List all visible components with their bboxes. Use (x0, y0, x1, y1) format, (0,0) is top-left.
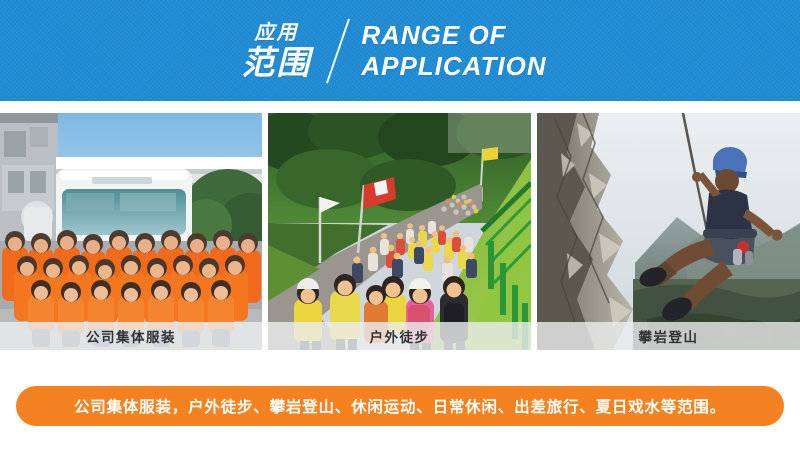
photo-company-group (0, 113, 262, 350)
header-title-group: 应用 范围 RANGE OF APPLICATION (0, 0, 800, 101)
header-english-title: RANGE OF APPLICATION (361, 20, 546, 80)
photo-rock-climbing (537, 113, 800, 350)
photo-hiking-crowd (268, 113, 531, 350)
gallery-card-outdoor-hiking[interactable]: 户外徒步 (268, 113, 531, 350)
gallery-caption-2: 户外徒步 (268, 322, 531, 350)
gallery-caption-1: 公司集体服装 (0, 322, 262, 350)
header-english-line-2: APPLICATION (361, 51, 546, 81)
gallery-card-rock-climbing[interactable]: 攀岩登山 (537, 113, 800, 350)
header-english-line-1: RANGE OF (361, 20, 546, 50)
gallery-card-company-uniform[interactable]: 公司集体服装 (0, 113, 262, 350)
summary-banner: 公司集体服装，户外徒步、攀岩登山、休闲运动、日常休闲、出差旅行、夏日戏水等范围。 (16, 386, 784, 426)
summary-banner-area: 公司集体服装，户外徒步、攀岩登山、休闲运动、日常休闲、出差旅行、夏日戏水等范围。 (0, 386, 800, 426)
header-chinese-line-top: 应用 (254, 22, 298, 42)
header-chinese-line-bottom: 范围 (241, 46, 311, 79)
title-block: 应用 范围 RANGE OF APPLICATION (241, 15, 546, 87)
slash-divider-icon (323, 15, 357, 87)
photo-gallery: 公司集体服装 (0, 113, 800, 350)
gallery-caption-3: 攀岩登山 (537, 322, 800, 350)
header-chinese-title: 应用 范围 (241, 22, 311, 79)
application-range-page: 应用 范围 RANGE OF APPLICATION (0, 0, 800, 455)
page-header-band: 应用 范围 RANGE OF APPLICATION (0, 0, 800, 101)
